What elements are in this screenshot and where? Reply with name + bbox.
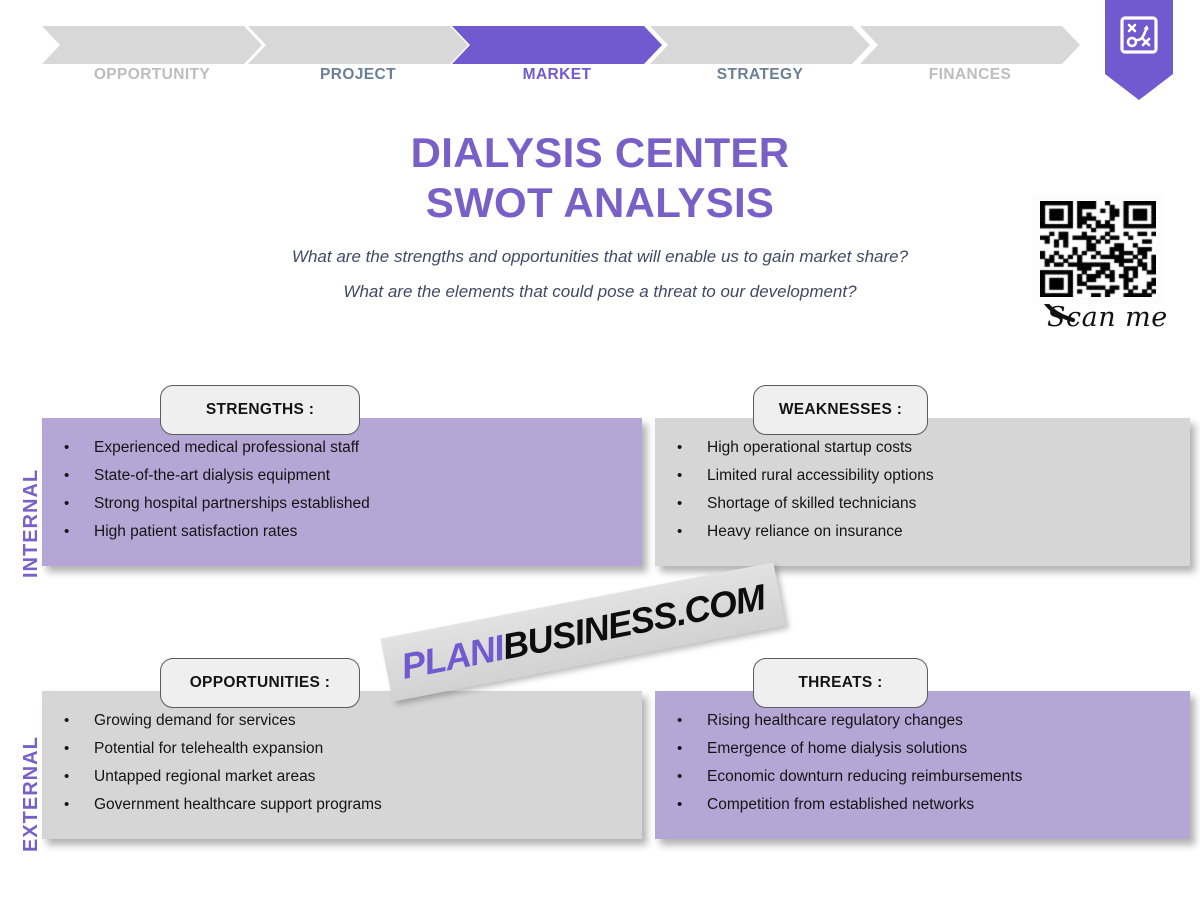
quadrant-heading-weaknesses: WEAKNESSES : [753,385,928,435]
scan-me-caption: Scan me [1047,302,1168,333]
strategy-badge-ribbon[interactable] [1105,0,1173,100]
nav-step-label: OPPORTUNITY [42,66,262,84]
watermark-brand-prefix: PLANI [398,627,507,688]
nav-step-label: STRATEGY [650,66,870,84]
quadrant-body-strengths: Experienced medical professional staffSt… [42,418,642,566]
page-title-line1: DIALYSIS CENTER [0,128,1200,178]
list-item: Competition from established networks [655,791,1190,819]
list-item: Limited rural accessibility options [655,462,1190,490]
nav-step-finances[interactable]: FINANCES [860,26,1080,64]
list-item: Untapped regional market areas [42,763,642,791]
nav-step-opportunity[interactable]: OPPORTUNITY [42,26,262,64]
weaknesses-list: High operational startup costsLimited ru… [655,434,1190,546]
axis-label-internal: INTERNAL [20,469,43,578]
list-item: Economic downturn reducing reimbursement… [655,763,1190,791]
nav-step-label: PROJECT [248,66,468,84]
quadrant-heading-strengths: STRENGTHS : [160,385,360,435]
list-item: Rising healthcare regulatory changes [655,707,1190,735]
quadrant-heading-opportunities: OPPORTUNITIES : [160,658,360,708]
list-item: Strong hospital partnerships established [42,490,642,518]
nav-step-project[interactable]: PROJECT [248,26,468,64]
list-item: Government healthcare support programs [42,791,642,819]
chevron-shape-active [452,26,662,64]
list-item: Experienced medical professional staff [42,434,642,462]
list-item: Growing demand for services [42,707,642,735]
threats-list: Rising healthcare regulatory changesEmer… [655,707,1190,819]
chevron-shape [650,26,870,64]
nav-step-strategy[interactable]: STRATEGY [650,26,870,64]
qr-code-icon[interactable] [1033,194,1163,304]
qr-block: Scan me [1015,186,1185,356]
quadrant-body-threats: Rising healthcare regulatory changesEmer… [655,691,1190,839]
chevron-shape [42,26,262,64]
step-navigation: OPPORTUNITY PROJECT MARKET STRATEGY FINA… [0,0,1200,110]
nav-step-label: FINANCES [860,66,1080,84]
quadrant-body-weaknesses: High operational startup costsLimited ru… [655,418,1190,566]
chevron-shape [860,26,1080,64]
strengths-list: Experienced medical professional staffSt… [42,434,642,546]
list-item: Emergence of home dialysis solutions [655,735,1190,763]
list-item: Heavy reliance on insurance [655,518,1190,546]
quadrant-body-opportunities: Growing demand for servicesPotential for… [42,691,642,839]
nav-step-label: MARKET [452,66,662,84]
strategy-playbook-icon [1118,14,1160,56]
quadrant-heading-threats: THREATS : [753,658,928,708]
nav-step-market[interactable]: MARKET [452,26,662,64]
axis-label-external: EXTERNAL [20,736,43,852]
watermark-brand-suffix: BUSINESS.COM [499,576,768,668]
list-item: High operational startup costs [655,434,1190,462]
qr-code-canvas [1040,201,1156,297]
watermark-banner: PLANI BUSINESS.COM [381,562,786,701]
list-item: Potential for telehealth expansion [42,735,642,763]
list-item: Shortage of skilled technicians [655,490,1190,518]
chevron-shape [248,26,468,64]
list-item: State-of-the-art dialysis equipment [42,462,642,490]
opportunities-list: Growing demand for servicesPotential for… [42,707,642,819]
list-item: High patient satisfaction rates [42,518,642,546]
